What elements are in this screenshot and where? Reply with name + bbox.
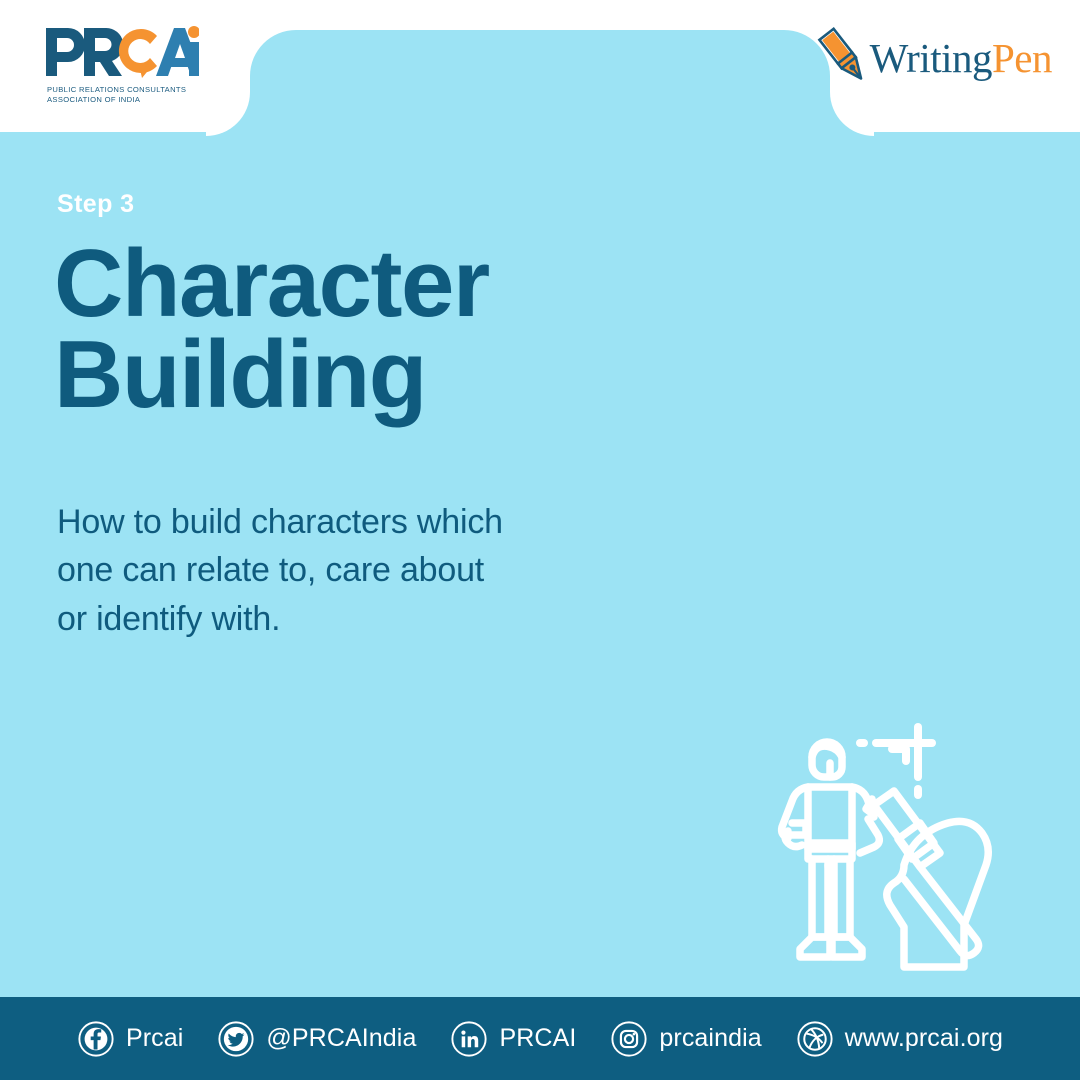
- facebook-icon: [77, 1020, 115, 1058]
- linkedin-icon: [450, 1020, 488, 1058]
- twitter-icon: [217, 1020, 255, 1058]
- social-link-facebook[interactable]: Prcai: [77, 1020, 183, 1058]
- illustration-svg: [772, 715, 1022, 985]
- social-link-website[interactable]: www.prcai.org: [796, 1020, 1003, 1058]
- header-tab-shape: [250, 30, 830, 140]
- dribbble-icon: [796, 1020, 834, 1058]
- fountain-pen-icon: [814, 26, 876, 90]
- writingpen-word-pen: Pen: [992, 35, 1052, 81]
- subcopy-line-2: one can relate to, care about: [57, 546, 697, 594]
- writingpen-word-writing: Writing: [870, 35, 992, 81]
- subcopy-text: How to build characters which one can re…: [57, 498, 697, 643]
- prcai-tagline: PUBLIC RELATIONS CONSULTANTS ASSOCIATION…: [47, 85, 199, 105]
- poster-canvas: PUBLIC RELATIONS CONSULTANTS ASSOCIATION…: [0, 0, 1080, 1080]
- page-title: Character Building: [54, 238, 694, 420]
- social-label-website: www.prcai.org: [845, 1024, 1003, 1053]
- prcai-logo[interactable]: PUBLIC RELATIONS CONSULTANTS ASSOCIATION…: [44, 24, 199, 105]
- prcai-logomark-icon: [44, 24, 199, 80]
- headline-line-1: Character: [54, 238, 694, 329]
- header-tab-corner-right: [830, 92, 874, 136]
- social-label-instagram: prcaindia: [659, 1024, 761, 1053]
- headline-line-2: Building: [54, 329, 694, 420]
- person-and-hand-drawing-with-pen-illustration: [772, 715, 1022, 985]
- step-label: Step 3: [57, 190, 134, 219]
- social-link-instagram[interactable]: prcaindia: [610, 1020, 761, 1058]
- social-label-twitter: @PRCAIndia: [266, 1024, 416, 1053]
- instagram-icon: [610, 1020, 648, 1058]
- writingpen-logo[interactable]: WritingPen: [814, 26, 1052, 90]
- social-link-twitter[interactable]: @PRCAIndia: [217, 1020, 416, 1058]
- writingpen-wordmark: WritingPen: [870, 38, 1052, 79]
- social-label-facebook: Prcai: [126, 1024, 183, 1053]
- social-footer-bar: Prcai @PRCAIndia PRCAI: [0, 997, 1080, 1080]
- subcopy-line-1: How to build characters which: [57, 498, 697, 546]
- social-link-linkedin[interactable]: PRCAI: [450, 1020, 576, 1058]
- social-label-linkedin: PRCAI: [499, 1024, 576, 1053]
- header-tab-corner-left: [206, 92, 250, 136]
- subcopy-line-3: or identify with.: [57, 595, 697, 643]
